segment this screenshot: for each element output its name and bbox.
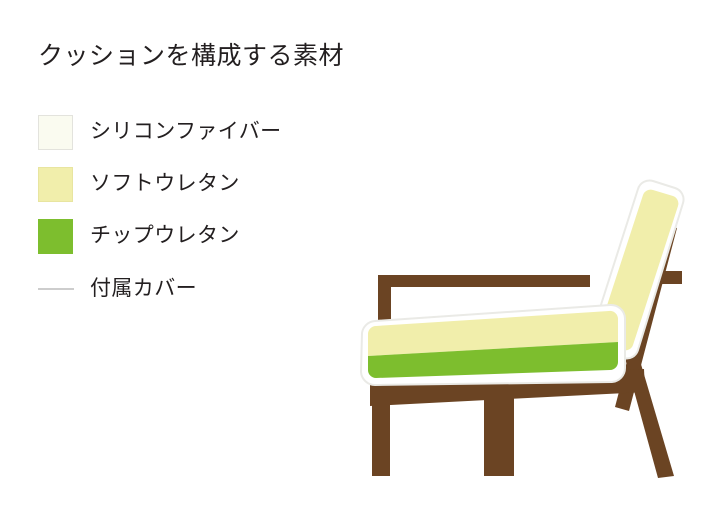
page-title: クッションを構成する素材: [38, 41, 344, 72]
legend-item-chip-urethane: チップウレタン: [38, 216, 338, 268]
diagram-page: クッションを構成する素材 シリコンファイバー ソフトウレタン チップウレタン 付…: [0, 0, 720, 514]
legend-item-silicon-fiber: シリコンファイバー: [38, 112, 338, 164]
legend-label-included-cover: 付属カバー: [90, 269, 197, 309]
legend-label-chip-urethane: チップウレタン: [90, 216, 240, 256]
legend: シリコンファイバー ソフトウレタン チップウレタン 付属カバー: [38, 112, 338, 320]
legend-label-silicon-fiber: シリコンファイバー: [90, 112, 282, 152]
mid-leg: [484, 382, 514, 476]
seat-cushion: [361, 305, 625, 385]
armrest-top-bar: [378, 275, 590, 287]
legend-item-soft-urethane: ソフトウレタン: [38, 164, 338, 216]
legend-label-soft-urethane: ソフトウレタン: [90, 164, 240, 204]
legend-line-included-cover: [38, 288, 74, 290]
legend-item-included-cover: 付属カバー: [38, 268, 338, 320]
legend-swatch-soft-urethane: [38, 167, 73, 202]
front-leg: [372, 386, 390, 476]
legend-swatch-chip-urethane: [38, 219, 73, 254]
legend-swatch-silicon-fiber: [38, 115, 73, 150]
wooden-sofa-chair-illustration: [348, 176, 720, 488]
